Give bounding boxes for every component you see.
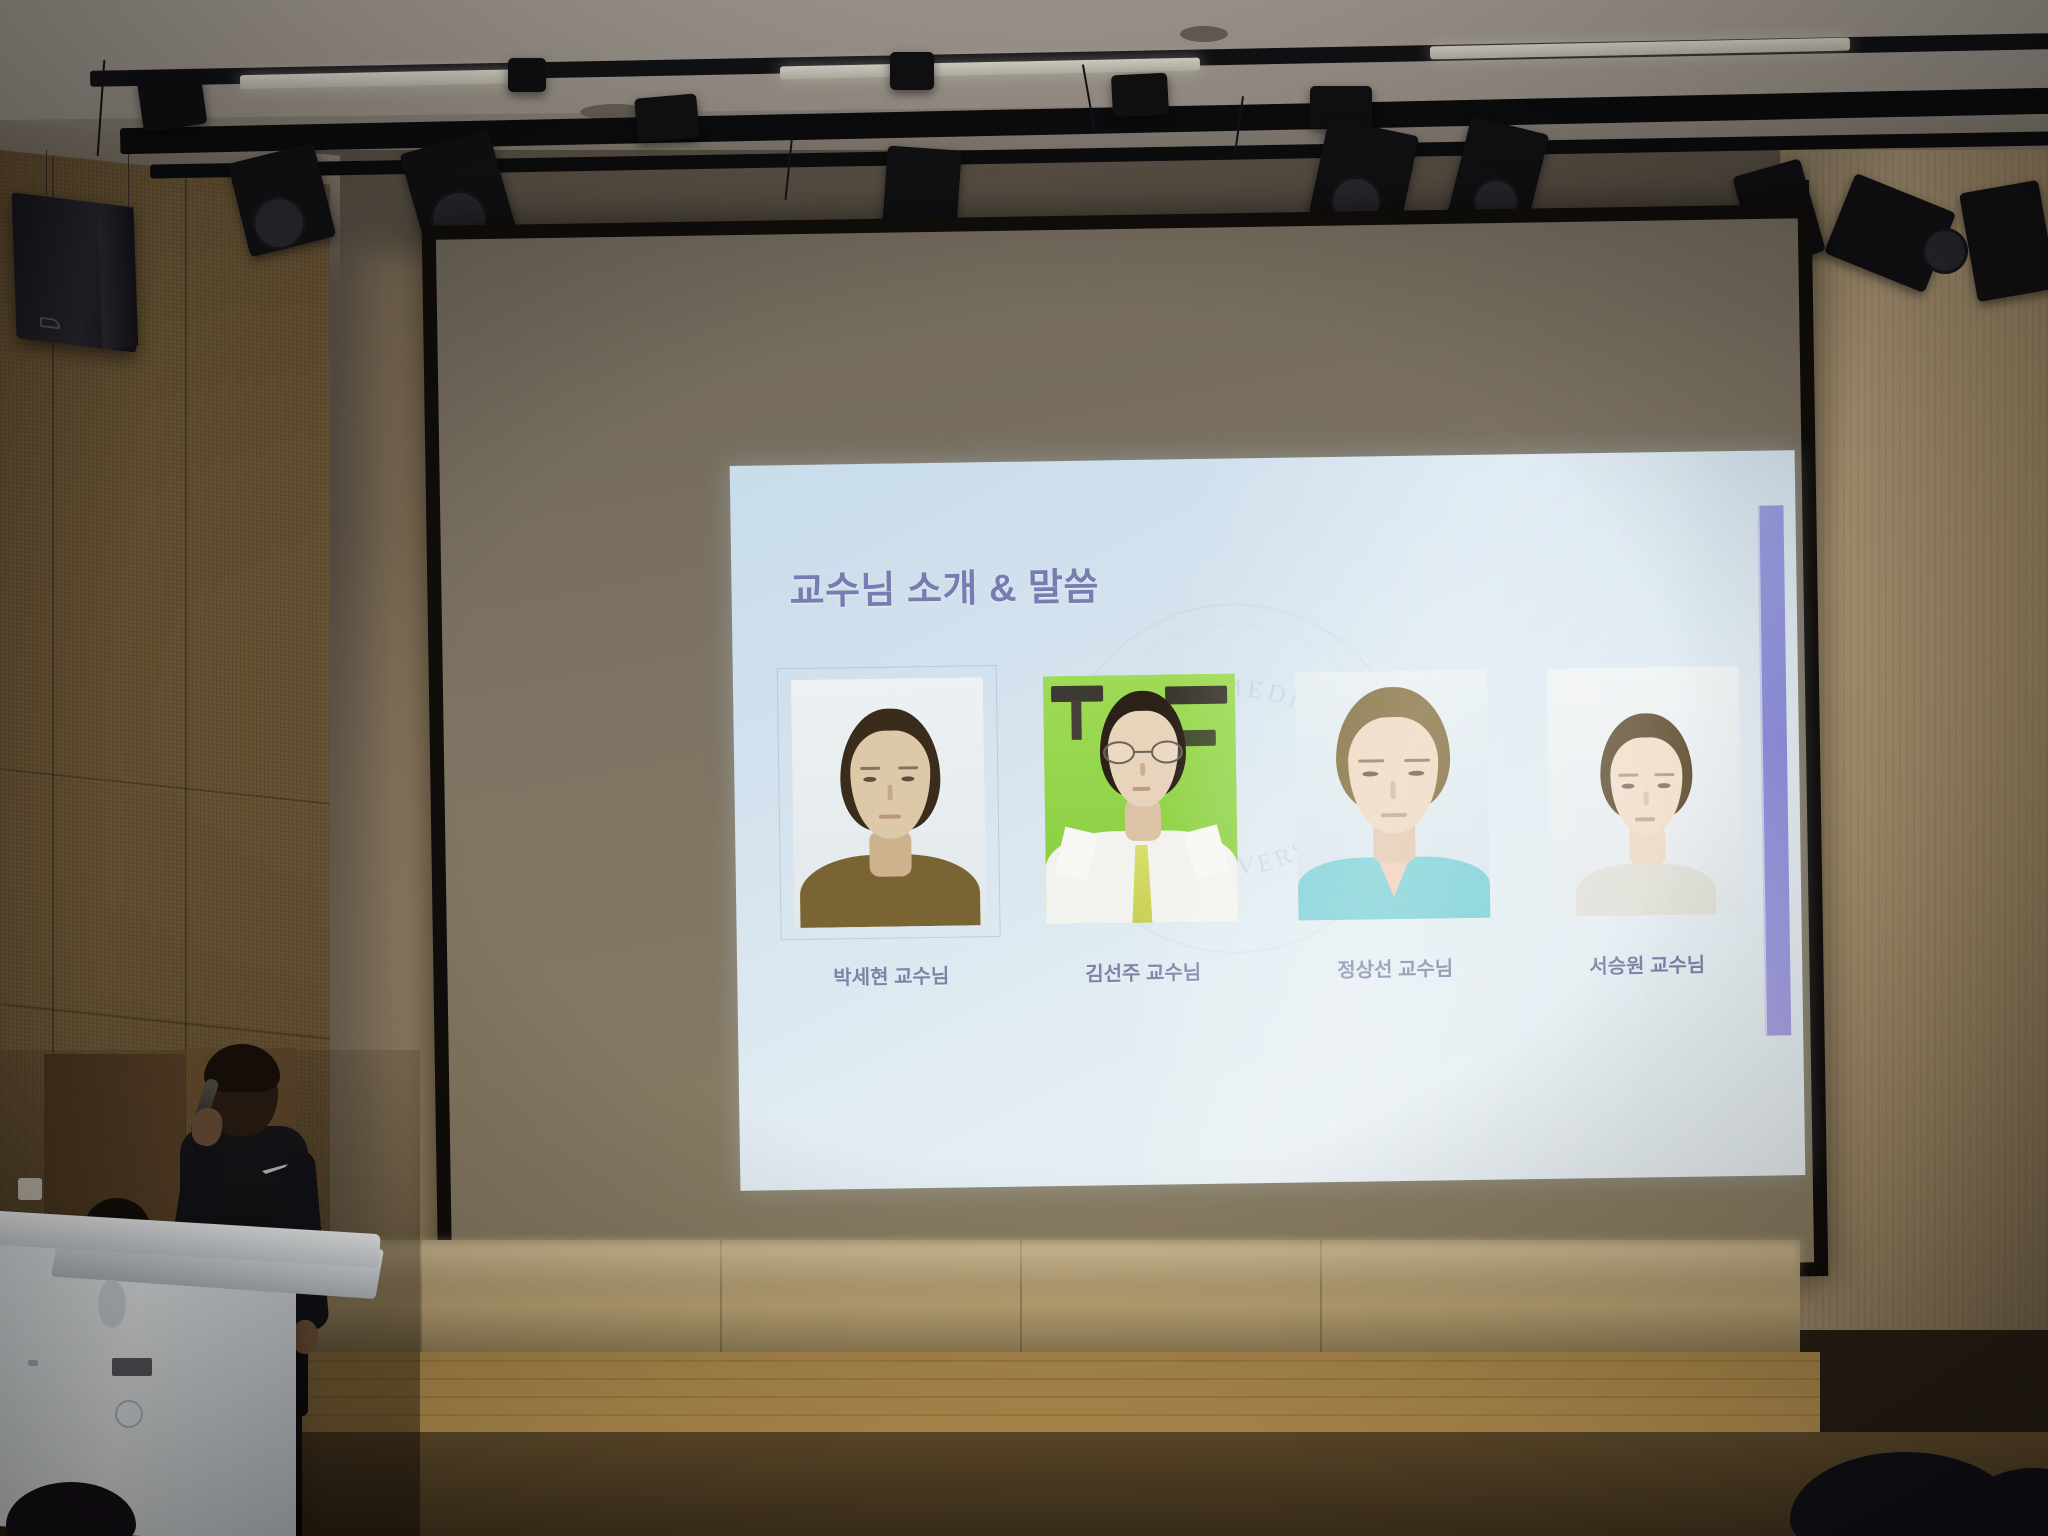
professor-name: 정상선 교수님 (1299, 952, 1491, 984)
speaker-logo-icon (40, 317, 60, 330)
speaker-grille (98, 207, 139, 350)
professor-card[interactable]: 정상선 교수님 (1295, 670, 1491, 921)
professor-name: 김선주 교수님 (1047, 955, 1239, 987)
glasses-lens-left (1103, 741, 1135, 764)
slide-title: 교수님 소개 & 말씀 (789, 555, 1099, 615)
stage-spotlight (508, 58, 546, 92)
podium-control-panel[interactable] (112, 1358, 152, 1376)
podium-side-knob[interactable] (98, 1280, 126, 1328)
portrait-mouth (1132, 787, 1150, 791)
background-text-wo (1182, 730, 1216, 747)
portrait-brow-right (1654, 773, 1674, 776)
slide-accent-bar (1757, 505, 1791, 1035)
portrait-nose (887, 785, 892, 801)
stage-spotlight (137, 70, 208, 132)
professor-card[interactable]: 서승원 교수님 (1547, 666, 1743, 917)
glasses-lens-right (1151, 740, 1183, 763)
eyeglasses-icon (1103, 740, 1183, 765)
podium-slot (28, 1360, 38, 1366)
portrait-brow-left (860, 767, 880, 770)
professor-card[interactable]: 김선주 교수님 (1043, 673, 1239, 924)
ceiling-vent-icon (1180, 26, 1228, 42)
portrait-nose (1390, 781, 1395, 799)
portrait-body (1576, 862, 1717, 916)
portrait-nose (1644, 791, 1649, 805)
presentation-slide[interactable]: SPORTS MEDICINE ANG UNIVERSITY 교수님 소개 & … (730, 450, 1806, 1191)
professor-photo (1547, 666, 1743, 917)
portrait-nose (1140, 763, 1145, 776)
auditorium-scene: SPORTS MEDICINE ANG UNIVERSITY 교수님 소개 & … (0, 0, 2048, 1536)
stage-spotlight (1111, 73, 1169, 118)
professor-photo (1043, 673, 1239, 924)
portrait-brow-left (1618, 773, 1638, 776)
professor-photo (1295, 670, 1491, 921)
professor-name: 서승원 교수님 (1551, 948, 1743, 980)
portrait-brow-left (1358, 759, 1384, 762)
portrait-mouth (879, 814, 901, 818)
stage-spotlight (890, 52, 934, 90)
portrait-brow-right (1404, 759, 1430, 762)
spotlight-lens-icon (1922, 228, 1968, 274)
professor-card[interactable]: 박세현 교수님 (791, 677, 987, 928)
professor-name: 박세현 교수님 (795, 959, 987, 991)
professor-photo (791, 677, 987, 928)
loudspeaker (12, 192, 137, 353)
portrait-mouth (1381, 813, 1407, 817)
portrait-mouth (1635, 817, 1655, 821)
podium-button-icon[interactable] (115, 1400, 143, 1428)
stage-accent-lighting (300, 1242, 1800, 1288)
background-equipment (1071, 700, 1082, 740)
stage-spotlight (634, 93, 700, 142)
professor-photo-row: 박세현 교수님 (791, 666, 1745, 980)
background-equipment (1165, 686, 1227, 705)
portrait-brow-right (898, 766, 918, 769)
wall-switch-plate[interactable] (18, 1178, 42, 1200)
glasses-bridge (1135, 751, 1151, 753)
